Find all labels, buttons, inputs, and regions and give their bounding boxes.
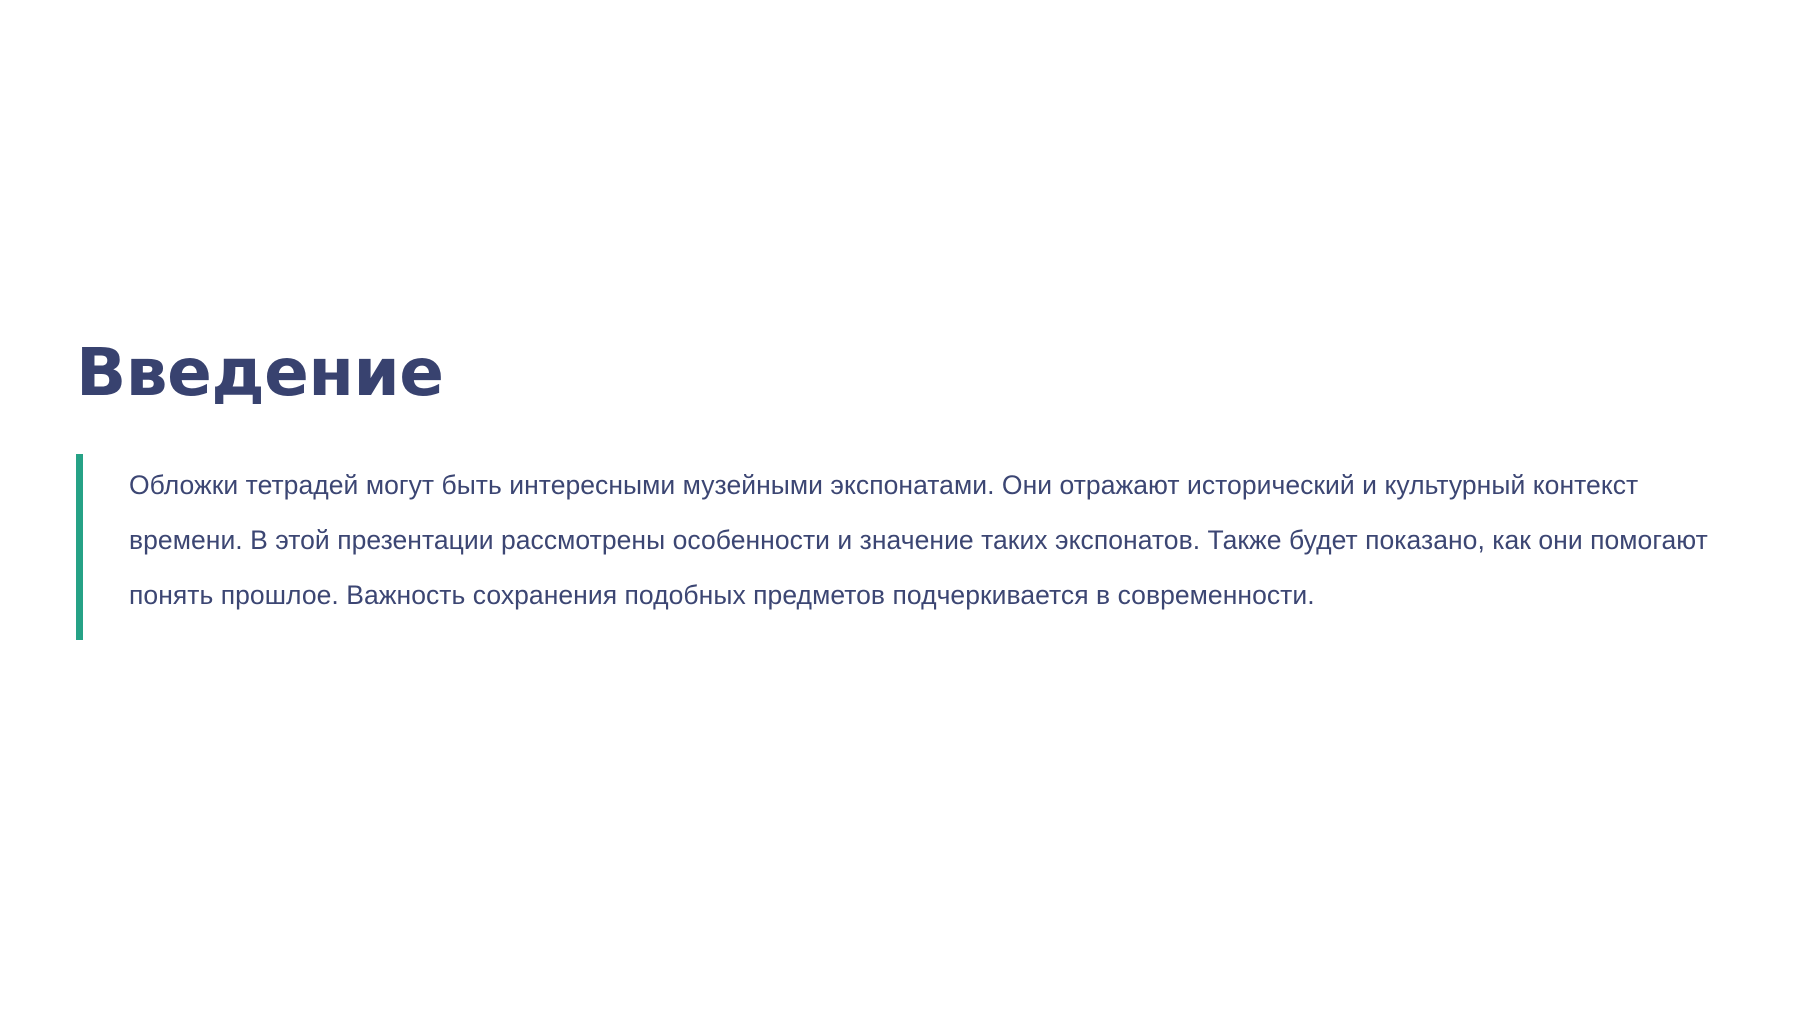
- accent-bar: [76, 454, 83, 640]
- body-paragraph: Обложки тетрадей могут быть интересными …: [129, 454, 1736, 640]
- body-block: Обложки тетрадей могут быть интересными …: [76, 454, 1736, 640]
- presentation-slide: Введение Обложки тетрадей могут быть инт…: [0, 0, 1800, 1013]
- body-paragraph-text: Обложки тетрадей могут быть интересными …: [129, 458, 1736, 623]
- slide-content: Введение Обложки тетрадей могут быть инт…: [76, 340, 1736, 640]
- page-title: Введение: [76, 340, 1736, 406]
